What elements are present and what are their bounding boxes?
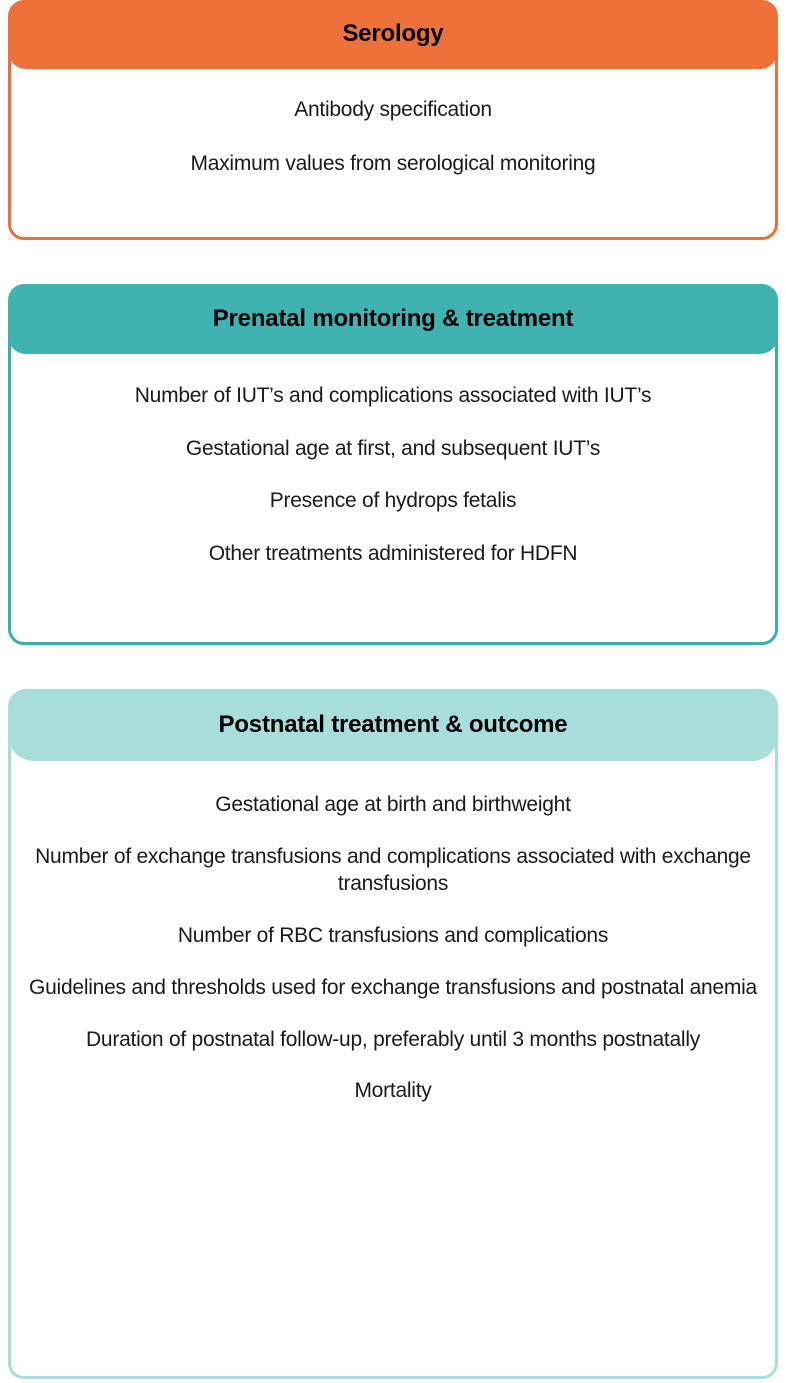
panel-serology-header: Serology — [8, 0, 778, 69]
panel-serology-items: Antibody specification Maximum values fr… — [22, 96, 764, 177]
list-item: Antibody specification — [22, 96, 764, 124]
list-item: Gestational age at first, and subsequent… — [22, 435, 764, 463]
panel-postnatal-title: Postnatal treatment & outcome — [219, 712, 568, 738]
list-item: Duration of postnatal follow-up, prefera… — [22, 1026, 764, 1054]
hdfn-data-collection-diagram: Serology Antibody specification Maximum … — [0, 0, 786, 1383]
list-item: Number of RBC transfusions and complicat… — [22, 922, 764, 950]
list-item: Maximum values from serological monitori… — [22, 150, 764, 178]
panel-prenatal-items: Number of IUT’s and complications associ… — [22, 382, 764, 568]
list-item: Number of exchange transfusions and comp… — [22, 843, 764, 898]
list-item: Mortality — [22, 1077, 764, 1105]
list-item: Other treatments administered for HDFN — [22, 540, 764, 568]
panel-postnatal-treatment-outcome: Postnatal treatment & outcome Gestationa… — [8, 689, 778, 1379]
list-item: Presence of hydrops fetalis — [22, 487, 764, 515]
panel-postnatal-items: Gestational age at birth and birthweight… — [22, 791, 764, 1105]
list-item: Guidelines and thresholds used for excha… — [22, 974, 764, 1002]
panel-postnatal-header: Postnatal treatment & outcome — [8, 689, 778, 761]
panel-prenatal-title: Prenatal monitoring & treatment — [213, 306, 574, 332]
list-item: Number of IUT’s and complications associ… — [22, 382, 764, 410]
list-item: Gestational age at birth and birthweight — [22, 791, 764, 819]
panel-serology: Serology Antibody specification Maximum … — [8, 0, 778, 240]
panel-prenatal-header: Prenatal monitoring & treatment — [8, 284, 778, 354]
panel-serology-title: Serology — [342, 21, 443, 47]
panel-prenatal-monitoring-treatment: Prenatal monitoring & treatment Number o… — [8, 284, 778, 645]
